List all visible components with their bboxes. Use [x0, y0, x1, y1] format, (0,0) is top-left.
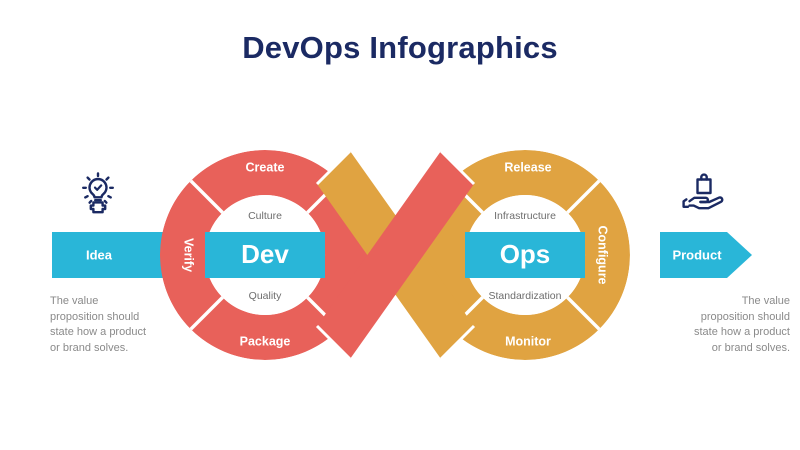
dev-core-label: Dev	[241, 239, 289, 269]
ops-core-label: Ops	[500, 239, 551, 269]
dev-segment-create-label: Create	[246, 160, 285, 174]
product-end-group[interactable]: Product	[660, 232, 752, 278]
ops-segment-monitor-label: Monitor	[505, 334, 551, 348]
ops-segment-configure-label: Configure	[596, 225, 610, 284]
ops-segment-release-label: Release	[504, 160, 551, 174]
product-label: Product	[672, 247, 722, 262]
dev-segment-package-label: Package	[240, 334, 291, 348]
ops-sub-bottom-label: Standardization	[489, 290, 562, 302]
infographic-canvas: DevOps Infographics Idea Product	[0, 0, 800, 450]
dev-sub-top-label: Culture	[248, 210, 282, 222]
dev-core[interactable]: Culture Dev Quality	[205, 195, 325, 315]
product-caption: The value proposition should state how a…	[685, 294, 790, 356]
ops-sub-top-label: Infrastructure	[494, 210, 556, 222]
dev-sub-bottom-label: Quality	[249, 290, 282, 302]
ops-core[interactable]: Infrastructure Ops Standardization	[465, 195, 585, 315]
hand-holding-bag-icon	[680, 168, 728, 221]
dev-segment-verify-label: Verify	[182, 238, 196, 272]
idea-caption: The value proposition should state how a…	[50, 294, 155, 356]
idea-label: Idea	[86, 247, 113, 262]
devops-infinity-diagram: Idea Product Create Verify Package	[0, 0, 800, 450]
lightbulb-check-gear-icon	[74, 168, 122, 221]
